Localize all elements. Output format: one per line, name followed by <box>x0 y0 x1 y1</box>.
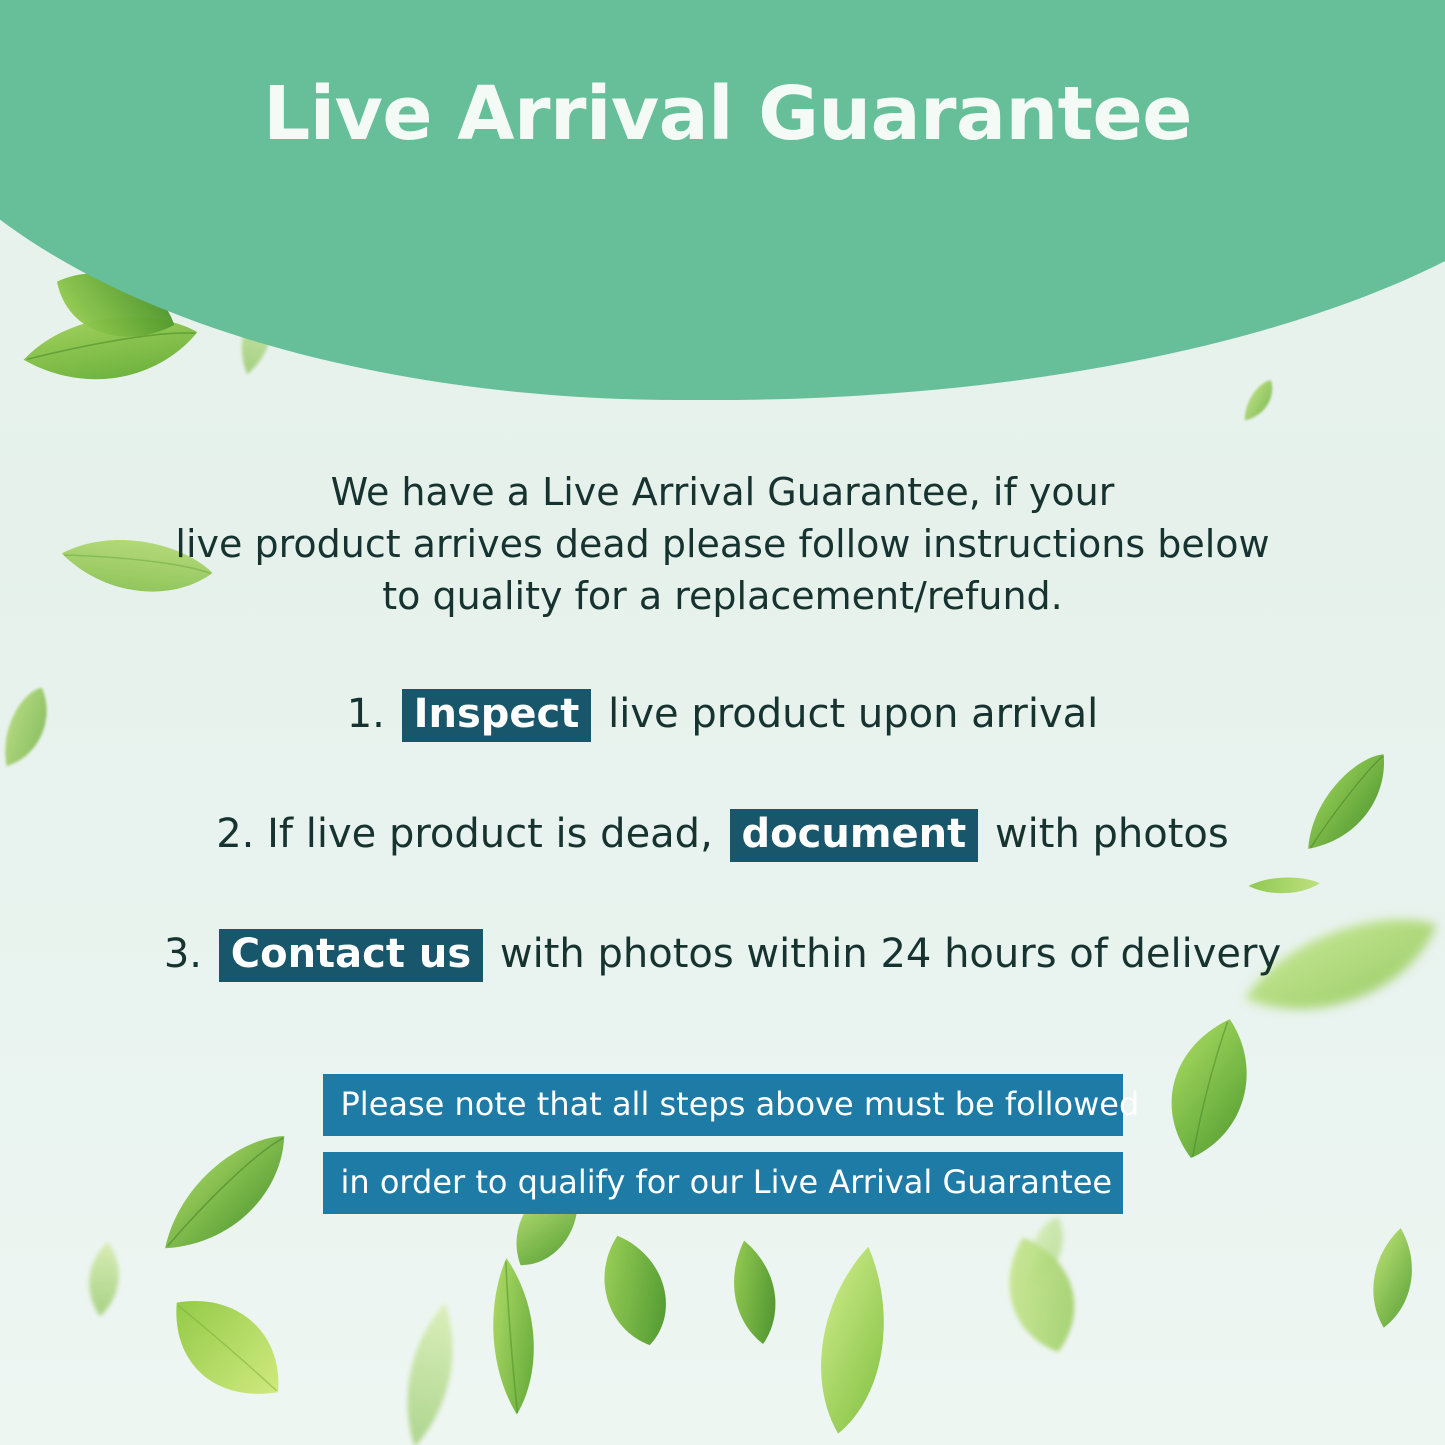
intro-line-1: We have a Live Arrival Guarantee, if you… <box>0 466 1445 518</box>
step-highlight-1: Inspect <box>402 689 592 742</box>
note-line-1: Please note that all steps above must be… <box>323 1074 1123 1136</box>
header: Live Arrival Guarantee <box>0 0 1445 228</box>
step-number-2: 2. <box>216 811 254 857</box>
step-text-3: with photos within 24 hours of delivery <box>500 931 1281 977</box>
step-item-2: 2. If live product is dead, document wit… <box>0 806 1445 862</box>
step-text-2-after: with photos <box>995 811 1229 857</box>
intro-paragraph: We have a Live Arrival Guarantee, if you… <box>0 466 1445 622</box>
note-line-2: in order to qualify for our Live Arrival… <box>323 1152 1123 1214</box>
intro-line-3: to quality for a replacement/refund. <box>0 570 1445 622</box>
step-number-1: 1. <box>347 691 385 737</box>
step-item-1: 1. Inspect live product upon arrival <box>0 686 1445 742</box>
step-highlight-2: document <box>730 809 979 862</box>
step-text-1: live product upon arrival <box>608 691 1098 737</box>
step-highlight-3: Contact us <box>219 929 483 982</box>
page-title: Live Arrival Guarantee <box>253 77 1192 151</box>
step-item-3: 3. Contact us with photos within 24 hour… <box>0 926 1445 982</box>
step-number-3: 3. <box>164 931 202 977</box>
step-text-2-before: If live product is dead, <box>267 811 713 857</box>
notes-block: Please note that all steps above must be… <box>0 1074 1445 1214</box>
live-arrival-guarantee-poster: Live Arrival Guarantee We have a Live Ar… <box>0 0 1445 1445</box>
intro-line-2: live product arrives dead please follow … <box>0 518 1445 570</box>
